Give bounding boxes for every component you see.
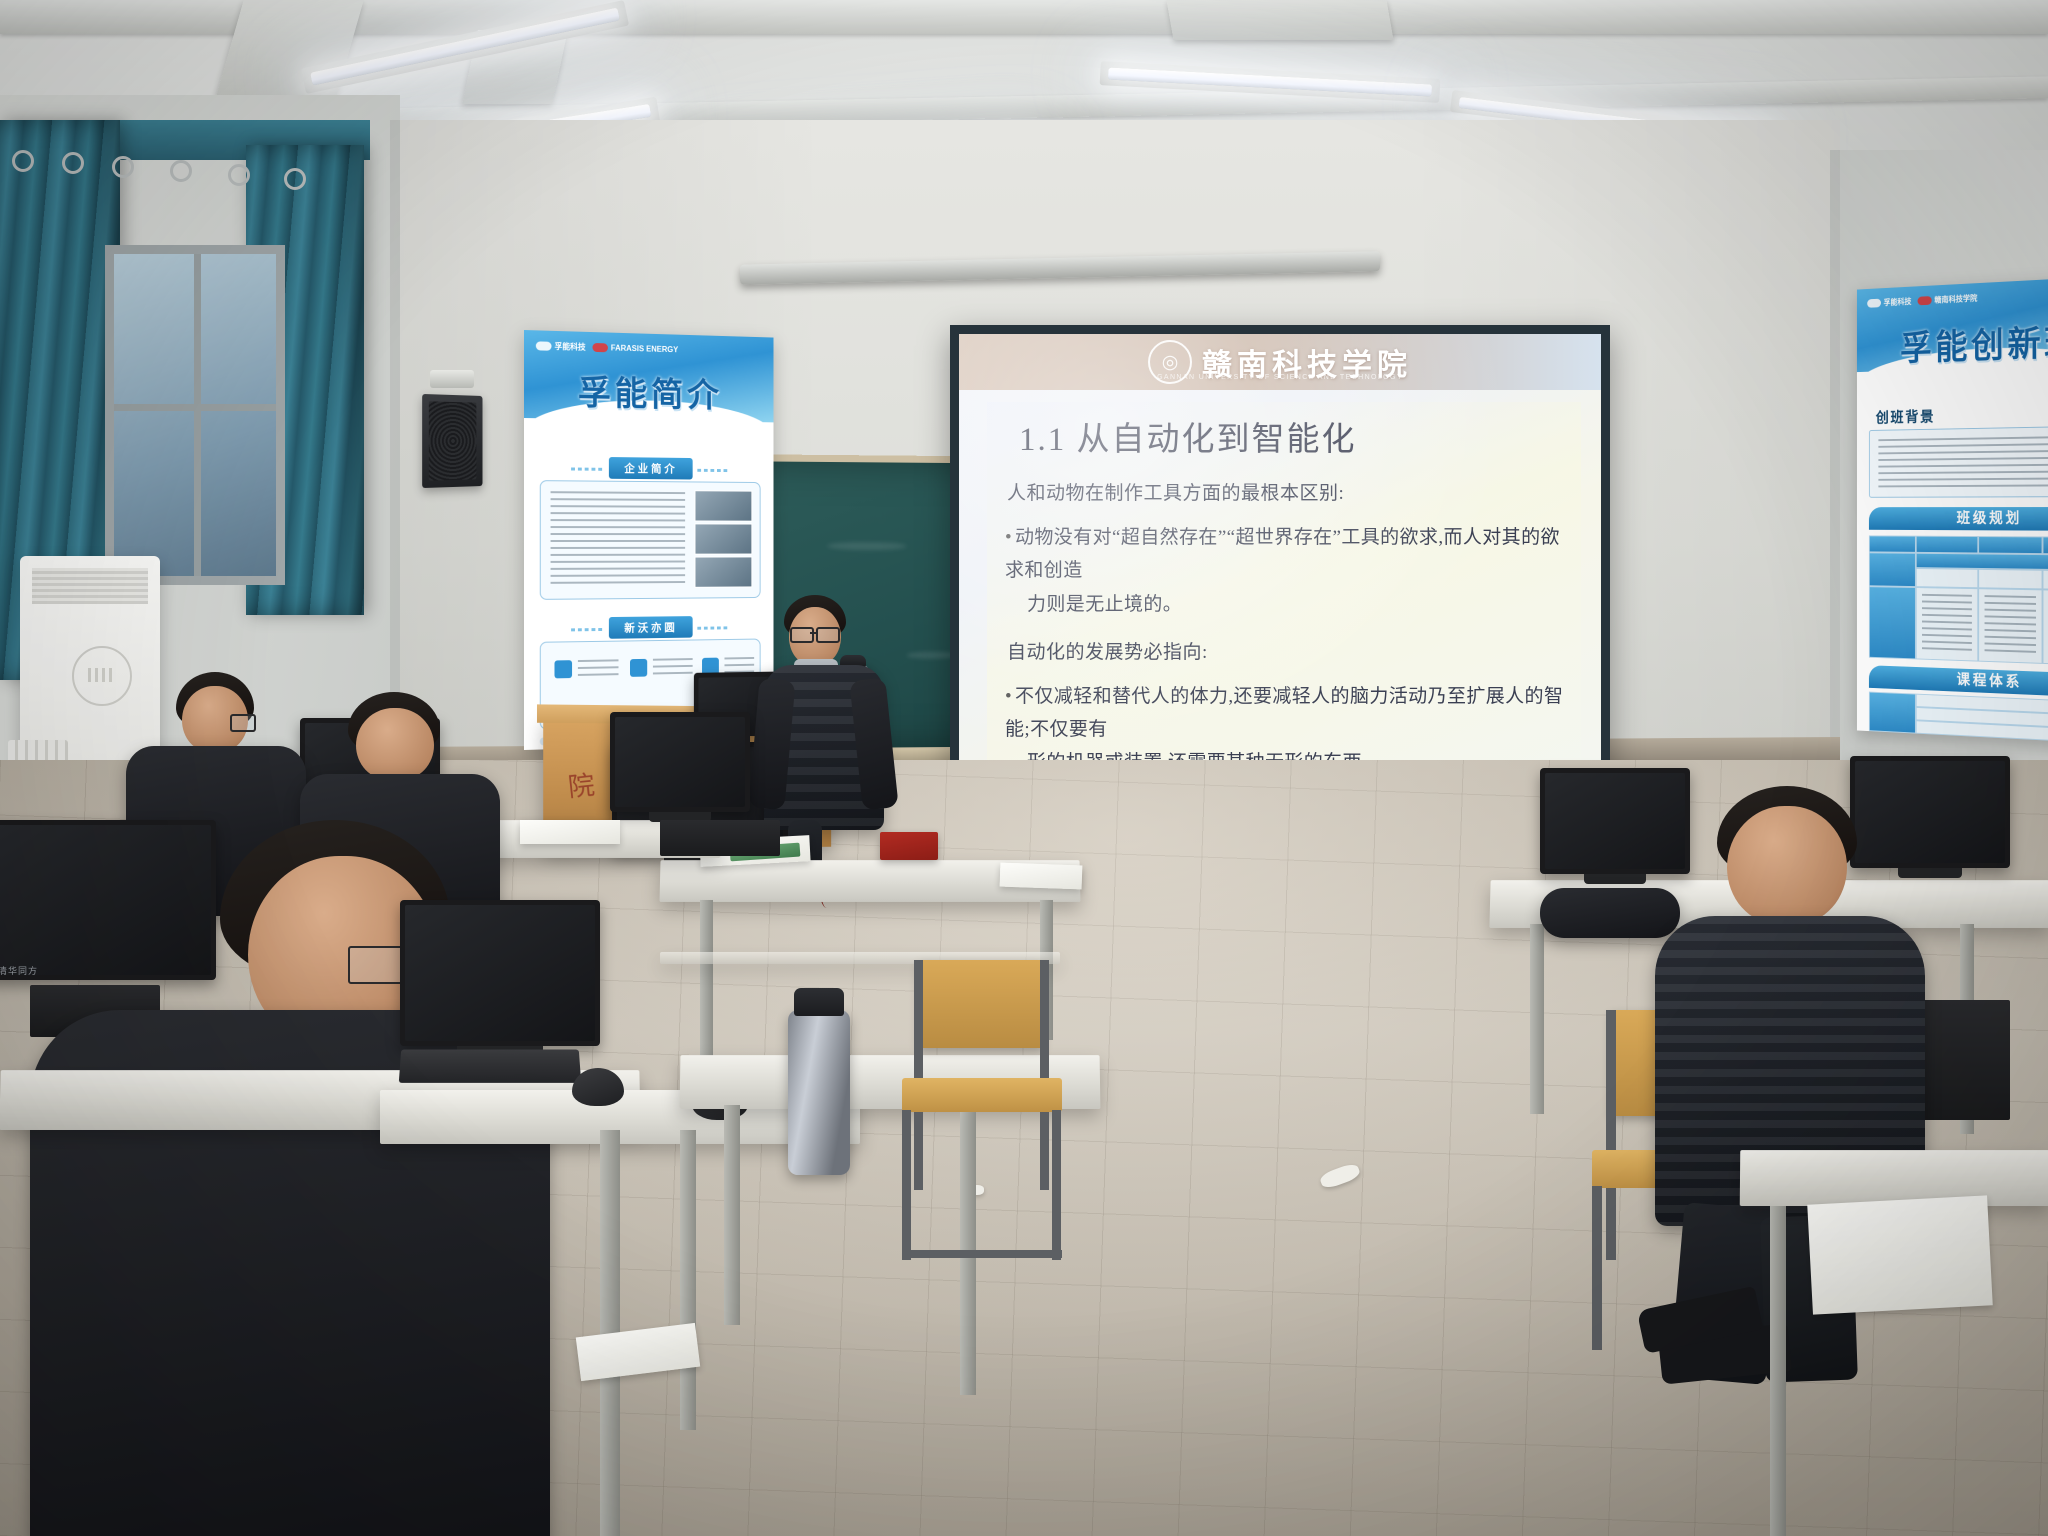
chair-leg xyxy=(1052,1110,1061,1260)
poster-farasis-innovation-class: 孚能科技 赣南科技学院 孚能创新班 创班背景 班级规划 xyxy=(1857,275,2048,745)
student-head xyxy=(1727,806,1847,924)
highlight-text xyxy=(653,658,693,676)
window xyxy=(105,245,285,585)
desk-leg xyxy=(724,1105,740,1325)
poster-section-tab-company: 企业简介 xyxy=(609,457,693,479)
plan-stage-cell xyxy=(1916,536,1978,554)
bullet-line-1: 不仅减轻和替代人的体力,还要减轻人的脑力活动乃至扩展人的智能;不仅要有 xyxy=(1005,686,1563,740)
poster-body-text xyxy=(1878,435,2048,488)
poster-body-text xyxy=(551,491,686,585)
brand-logo-farasis: 孚能科技 xyxy=(1867,296,1911,309)
curtain-ring xyxy=(170,160,192,182)
logo-mark-icon xyxy=(592,343,607,352)
bullet-marker: • xyxy=(1005,521,1015,554)
highlight-text xyxy=(578,659,619,678)
plan-stage-cell xyxy=(1978,536,2042,554)
slide-lead-text: 人和动物在制作工具方面的最根本区别: xyxy=(1007,478,1571,505)
plan-row-label xyxy=(1869,586,1916,659)
monitor-stand xyxy=(1584,874,1646,884)
foreground-monitor-right[interactable] xyxy=(400,900,600,1046)
desk-far-right-foreground xyxy=(1740,1150,2048,1206)
brand-right-label: FARASIS ENERGY xyxy=(611,343,678,354)
wall-speaker xyxy=(422,394,482,488)
chair-foot-rail xyxy=(902,1250,1062,1258)
plan-content-cell xyxy=(1978,588,2042,664)
poster-section-plan-header: 班级规划 xyxy=(1869,507,2048,531)
plan-stage-cell xyxy=(1869,535,1916,552)
ceiling-duct-right xyxy=(1166,0,1393,40)
student-monitor-3[interactable] xyxy=(610,712,750,812)
desk-leg xyxy=(700,900,713,1060)
bullet-marker: • xyxy=(1005,680,1015,713)
plan-goal-cell xyxy=(1916,568,1978,588)
curriculum-row-label xyxy=(1869,692,1916,734)
brand-logo-farasis: 孚能科技 xyxy=(536,340,586,352)
chair-seat xyxy=(902,1078,1062,1112)
battery-icon xyxy=(630,659,647,677)
logo-mark-icon xyxy=(1918,296,1932,305)
keyboard[interactable] xyxy=(399,1050,581,1083)
poster-company-box xyxy=(540,480,761,600)
curtain-ring xyxy=(12,150,34,172)
poster-section-tab-advantage: 新沃亦圆 xyxy=(609,616,693,639)
curtain-ring xyxy=(284,168,306,190)
poster-thumbnail xyxy=(695,490,753,521)
bullet-line-2: 力则是无止境的。 xyxy=(1027,588,1571,621)
teacher-glasses-bridge xyxy=(810,632,816,634)
speaker-grille xyxy=(429,401,477,480)
logo-mark-icon xyxy=(1867,299,1881,308)
plan-content-cell xyxy=(1916,587,1978,662)
chair-frame-left xyxy=(914,960,923,1190)
curtain-ring xyxy=(228,164,250,186)
plan-row-label xyxy=(1869,552,1916,587)
brand-logo-energy: FARASIS ENERGY xyxy=(592,343,678,354)
monitor-screen xyxy=(405,905,595,1041)
chair-center[interactable] xyxy=(888,960,1078,1260)
brand-left-label: 孚能科技 xyxy=(554,341,585,353)
papers-far-right xyxy=(1807,1195,1993,1314)
plan-goal-cell xyxy=(2043,570,2048,591)
poster-plan-grid xyxy=(1869,535,2048,664)
ac-vent-icon xyxy=(32,568,148,604)
teacher-glasses xyxy=(790,627,814,643)
slide-header: ◎ 赣南科技学院 GANNAN UNIVERSITY OF SCIENCE AN… xyxy=(959,334,1601,390)
speaker-mount xyxy=(430,370,474,388)
chair-leg xyxy=(902,1110,911,1260)
plan-content-cell xyxy=(2043,589,2048,666)
brand-left-label: 孚能科技 xyxy=(1884,296,1912,308)
university-name-english: GANNAN UNIVERSITY OF SCIENCE AND TECHNOL… xyxy=(1157,374,1403,381)
brand-right-label: 赣南科技学院 xyxy=(1934,293,1977,306)
logo-mark-icon xyxy=(536,341,552,350)
poster-thumbnail xyxy=(695,556,753,587)
classroom-scene: ◎ 赣南科技学院 GANNAN UNIVERSITY OF SCIENCE AN… xyxy=(0,0,2048,1536)
student-head xyxy=(356,708,434,780)
red-notebook[interactable] xyxy=(880,832,938,860)
plan-goal-cell xyxy=(1978,569,2042,589)
layers-icon xyxy=(554,660,572,678)
slide-bullet-1: •动物没有对“超自然存在”“超世界存在”工具的欲求,而人对其的欲求和创造 力则是… xyxy=(1005,521,1571,621)
curtain-ring xyxy=(62,152,84,174)
desk-leg xyxy=(1770,1206,1786,1536)
curtain-ring xyxy=(112,156,134,178)
poster-left-title: 孚能简介 xyxy=(524,364,773,418)
window-mullion-horizontal xyxy=(114,404,276,411)
teacher xyxy=(748,595,898,855)
student-glasses xyxy=(230,714,256,732)
bullet-line-1: 动物没有对“超自然存在”“超世界存在”工具的欲求,而人对其的欲求和创造 xyxy=(1005,527,1560,581)
teacher-glasses xyxy=(816,627,840,643)
plan-items xyxy=(1922,594,1972,655)
chair-frame-left xyxy=(1606,1010,1616,1260)
desk-leg xyxy=(1530,924,1544,1114)
poster-background-box xyxy=(1869,425,2048,498)
slide-lead-text-2: 自动化的发展势必指向: xyxy=(1007,637,1571,664)
poster-section-background-label: 创班背景 xyxy=(1876,406,1935,427)
bottle-cap xyxy=(794,988,844,1016)
chair-frame-right xyxy=(1040,960,1049,1190)
window-mullion-vertical xyxy=(194,254,201,576)
desk-leg xyxy=(680,1130,696,1430)
ac-display-icon xyxy=(88,668,112,682)
poster-thumbnail xyxy=(695,523,753,554)
loose-papers xyxy=(1000,863,1083,890)
podium-character-mark: 院 xyxy=(566,764,596,804)
plan-items xyxy=(1985,595,2036,657)
chair-backrest xyxy=(918,960,1044,1048)
slide-title: 1.1 从自动化到智能化 xyxy=(1019,412,1571,460)
computer-tower xyxy=(660,820,780,856)
monitor-screen xyxy=(615,717,745,807)
water-bottle[interactable] xyxy=(788,1010,850,1175)
plan-stage-cell xyxy=(2043,536,2048,554)
chair-leg xyxy=(1592,1186,1602,1350)
